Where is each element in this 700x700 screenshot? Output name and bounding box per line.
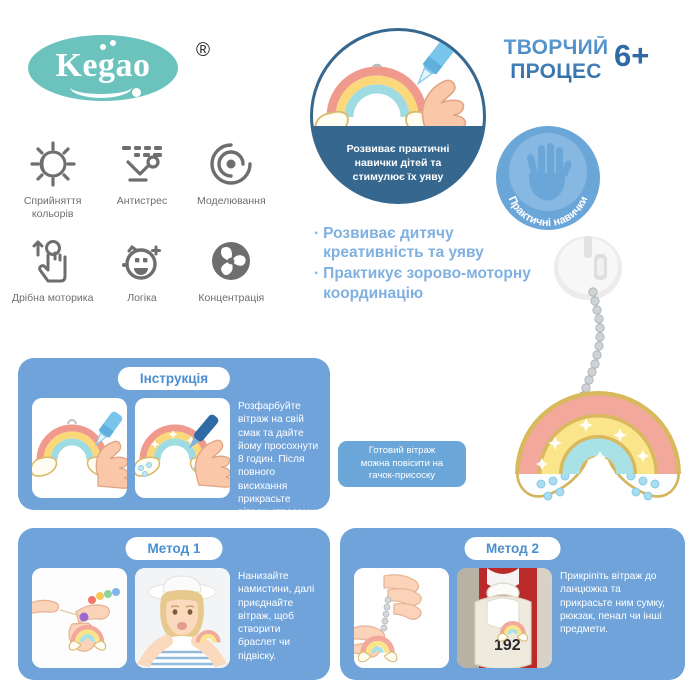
creative-process-badge: Розвиває практичні навички дітей та стим… [310,28,486,204]
feature-item-logic: Логіка [97,235,186,305]
method2-text: Прикріпіть вітраж до ланцюжка та прикрас… [560,568,675,668]
method1-panel: Метод 1 [18,528,330,680]
logo-smile-swoosh [70,76,132,98]
feature-label: Логіка [127,292,157,305]
brand-logo: Kegao ® [28,30,278,110]
process-illustration-coloring-hand [313,31,483,126]
panel-title-method1: Метод 1 [126,537,223,560]
registered-trademark-symbol: ® [196,40,210,62]
bullet-line: координацію [323,285,423,302]
logo-dot-upper-left [100,44,106,50]
method2-photo-1 [354,568,449,668]
practical-skills-badge: Практичні навички [496,126,600,230]
instruction-photo-2 [135,398,230,498]
sun-icon [27,138,79,190]
feature-label: Антистрес [117,195,167,208]
note-line-1: Готовий вітраж [369,445,436,456]
feature-item-color-perception: Сприйняття кольорів [8,138,97,221]
ball-chain [577,288,604,408]
page-title-line-1: ТВОРЧИЙ [496,36,616,60]
smiley-face-icon [116,235,168,287]
instruction-panel: Інструкція [18,358,330,510]
suction-hook-note: Готовий вітраж можна повісити на гачок-п… [338,441,466,487]
feature-item-concentration: Концентрація [187,235,276,305]
instruction-text: Розфарбуйте вітраж на свій смак та дайте… [238,398,320,498]
hand-tap-icon [27,235,79,287]
method1-photo-1 [32,568,127,668]
process-caption: Розвиває практичні навички дітей та стим… [313,126,483,201]
antistress-icon [116,138,168,190]
process-caption-line-3: стимулює їх уяву [353,171,444,185]
age-rating-badge: 6+ [614,38,649,74]
method2-photo-2: 192 [457,568,552,668]
feature-label: Дрібна моторика [12,292,94,305]
note-line-2: можна повісити на [361,458,444,469]
page-title: ТВОРЧИЙ ПРОЦЕС [496,36,616,83]
process-caption-line-2: навички дітей та [355,157,442,171]
feature-item-antistress: Антистрес [97,138,186,221]
instruction-photo-1 [32,398,127,498]
method1-photo-2 [135,568,230,668]
bullet-dot: · [314,264,319,302]
note-line-3: гачок-присоску [369,470,435,481]
bullet-line: Розвиває дитячу [323,225,453,242]
suction-cup [554,236,622,300]
page-title-line-2: ПРОЦЕС [496,60,616,84]
method1-text: Нанизайте намистини, далі приєднайте віт… [238,568,320,668]
logo-dot-upper-right [110,40,116,46]
feature-label: Моделювання [197,195,266,208]
panel-title-method2: Метод 2 [464,537,561,560]
feature-item-modeling: Моделювання [187,138,276,221]
feature-label: Концентрація [198,292,264,305]
feature-icon-grid: Сприйняття кольорів Антистрес [8,138,276,304]
bullet-text: Розвиває дитячу креативність та уяву [323,224,484,262]
process-caption-line-1: Розвиває практичні [347,143,450,157]
target-spiral-icon [205,138,257,190]
feature-label: Сприйняття кольорів [10,195,96,221]
feature-item-fine-motor: Дрібна моторика [8,235,97,305]
bullet-dot: · [314,224,319,262]
product-hero-image [500,236,696,522]
skills-badge-curved-text: Практичні навички [496,126,600,230]
method2-panel: Метод 2 [340,528,685,680]
panel-title-instruction: Інструкція [118,367,230,390]
rainbow-arcs [528,404,668,474]
logo-dot-lower [132,88,141,97]
triskelion-icon [205,235,257,287]
bullet-line: креативність та уяву [323,244,484,261]
